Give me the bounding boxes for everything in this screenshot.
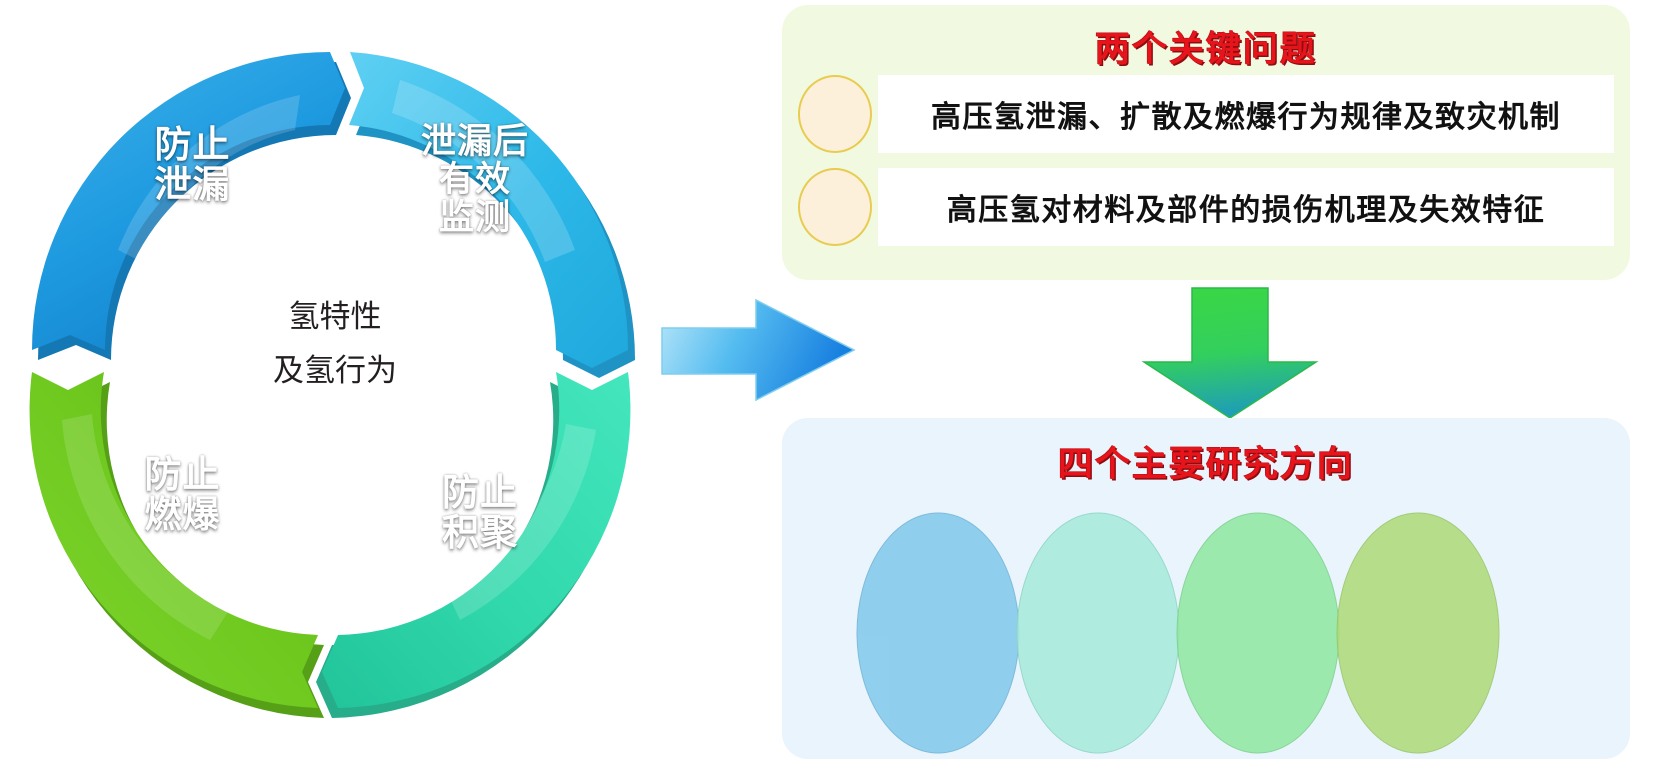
key-issue-row[interactable]: 高压氢泄漏、扩散及燃爆行为规律及致灾机制 [798, 75, 1614, 153]
cycle-segment-prevent-accumulation[interactable] [316, 372, 630, 718]
down-arrow-icon [1130, 278, 1330, 423]
direction-ellipse-1[interactable] [857, 513, 1019, 753]
research-directions-panel: 四个主要研究方向 氢能安全 风险评估 技术研究 临氢材料 及装备安 全研究 氢能… [782, 418, 1630, 759]
hydrogen-safety-cycle: 防止 泄漏 泄漏后 有效 监测 防止 积聚 防止 燃爆 氢特性 及氢行为 [0, 0, 660, 759]
key-issue-text: 高压氢对材料及部件的损伤机理及失效特征 [947, 185, 1546, 229]
cycle-segment-prevent-explosion[interactable] [30, 372, 324, 718]
research-direction-ellipses [782, 418, 1630, 759]
bullet-circle-icon [798, 75, 872, 153]
direction-ellipse-2[interactable] [1017, 513, 1179, 753]
direction-ellipse-3[interactable] [1177, 513, 1339, 753]
key-issue-box: 高压氢对材料及部件的损伤机理及失效特征 [878, 168, 1614, 246]
cycle-center-label: 氢特性 及氢行为 [205, 290, 465, 399]
diagram-canvas: 防止 泄漏 泄漏后 有效 监测 防止 积聚 防止 燃爆 氢特性 及氢行为 两个关… [0, 0, 1654, 759]
right-arrow-icon [648, 278, 868, 423]
direction-ellipse-4[interactable] [1337, 513, 1499, 753]
key-issue-text: 高压氢泄漏、扩散及燃爆行为规律及致灾机制 [931, 92, 1561, 136]
bullet-circle-icon [798, 168, 872, 246]
key-issue-box: 高压氢泄漏、扩散及燃爆行为规律及致灾机制 [878, 75, 1614, 153]
key-issue-row[interactable]: 高压氢对材料及部件的损伤机理及失效特征 [798, 168, 1614, 246]
key-issues-title: 两个关键问题 [782, 21, 1630, 72]
key-issues-panel: 两个关键问题 高压氢泄漏、扩散及燃爆行为规律及致灾机制 高压氢对材料及部件的损伤… [782, 5, 1630, 280]
